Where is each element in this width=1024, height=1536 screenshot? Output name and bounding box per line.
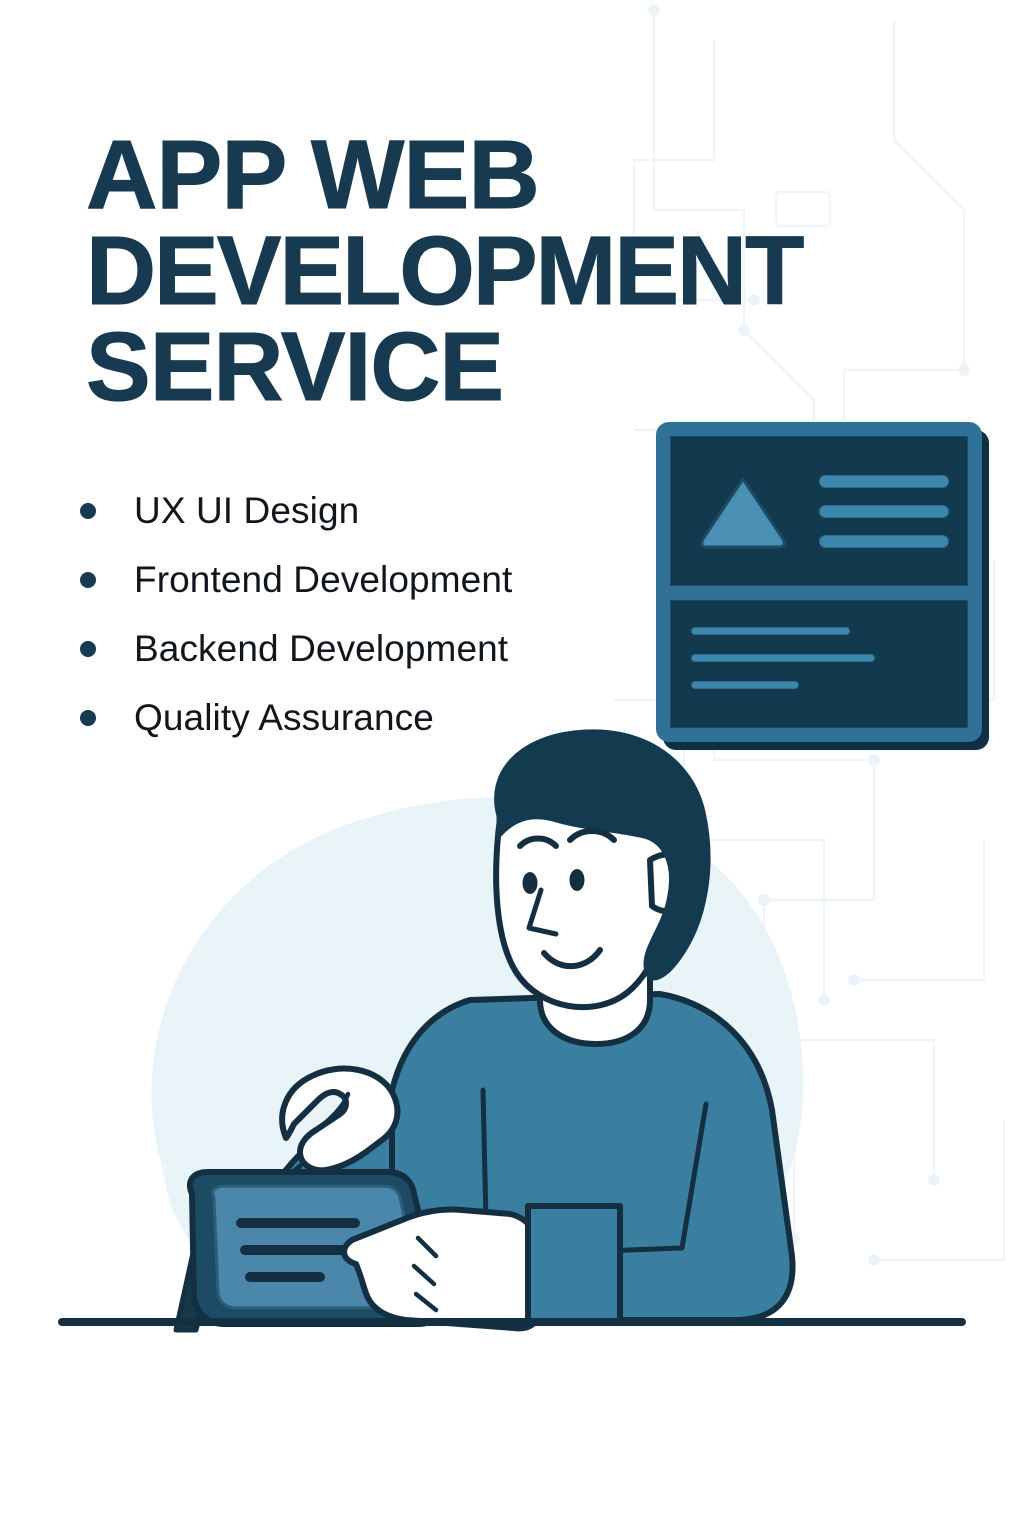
bullet-dot-icon <box>80 572 96 588</box>
service-label: Frontend Development <box>134 559 512 601</box>
sleeve-cuff <box>528 1206 620 1322</box>
desk-line <box>58 1318 966 1326</box>
bullet-dot-icon <box>80 503 96 519</box>
title-line-2: DEVELOPMENT <box>86 223 906 319</box>
play-triangle-icon <box>697 473 789 549</box>
page-title: APP WEB DEVELOPMENT SERVICE <box>86 127 906 415</box>
service-label: Backend Development <box>134 628 508 670</box>
tablet-line <box>245 1272 325 1282</box>
window-top-panel <box>670 436 968 586</box>
window-bar <box>819 475 949 488</box>
window-text-line <box>691 627 850 635</box>
list-item: UX UI Design <box>80 476 640 545</box>
window-mockup-card <box>656 422 982 742</box>
eye-right <box>570 869 585 891</box>
window-top-bars <box>813 475 949 548</box>
window-bar <box>819 505 949 518</box>
window-text-line <box>691 681 799 689</box>
tablet-line <box>236 1218 360 1228</box>
person-with-tablet-illustration <box>0 700 1024 1360</box>
poster-canvas: APP WEB DEVELOPMENT SERVICE UX UI Design… <box>0 0 1024 1536</box>
eye-left <box>523 872 538 894</box>
list-item: Backend Development <box>80 614 640 683</box>
window-text-line <box>691 654 875 662</box>
service-label: UX UI Design <box>134 490 359 532</box>
bullet-dot-icon <box>80 641 96 657</box>
window-bar <box>819 535 949 548</box>
list-item: Frontend Development <box>80 545 640 614</box>
title-line-1: APP WEB <box>86 127 922 223</box>
title-line-3: SERVICE <box>86 319 906 415</box>
